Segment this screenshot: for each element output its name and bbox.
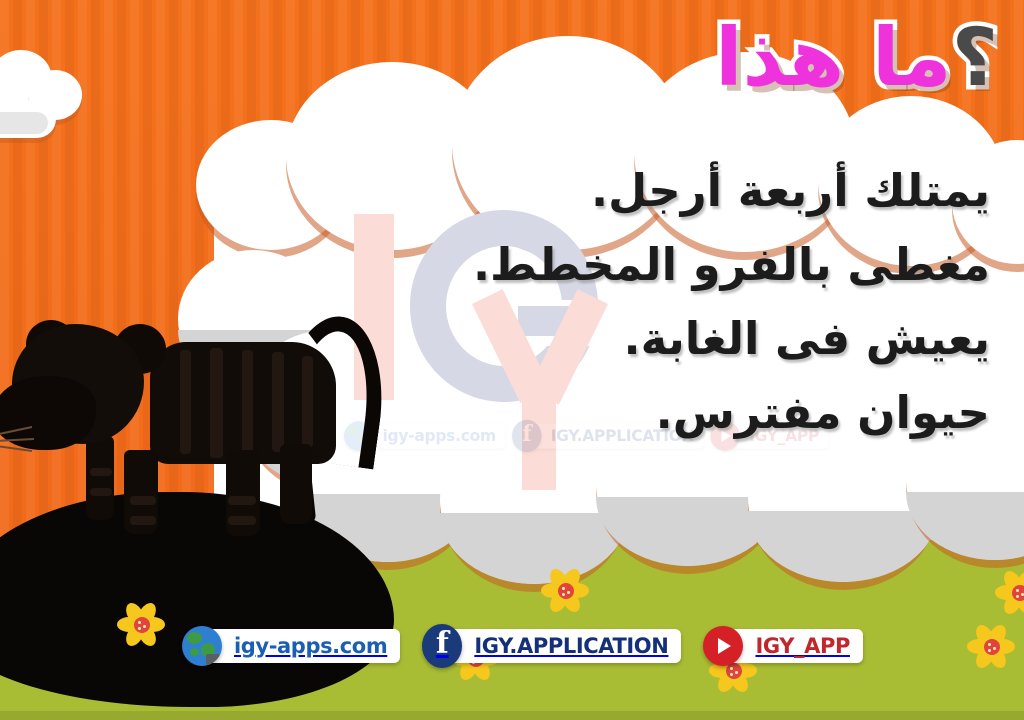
globe-icon [182,626,222,666]
flower [542,570,588,612]
rock-ground-silhouette [0,492,394,707]
website-label: igy-apps.com [196,629,400,663]
title-question-mark: ؟ [952,11,998,104]
badge-website[interactable]: igy-apps.com [182,628,400,664]
riddle-line: حيوان مفترس. [430,390,990,435]
page-title: ؟ما هذا [715,18,998,98]
facebook-label: IGY.APPLICATION [436,629,681,663]
riddle-line: مغطى بالفرو المخطط. [430,242,990,287]
flower [118,604,164,646]
badge-youtube[interactable]: IGY_APP [703,628,863,664]
illustration-card: igy-apps.com f IGY.APPLICATION IGY_APP ؟… [0,0,1024,720]
riddle-line: يعيش فى الغابة. [430,316,990,361]
grass-bottom-strip [0,711,1024,720]
riddle-line: يمتلك أربعة أرجل. [430,168,990,213]
title-text: ما هذا [715,11,952,104]
flower [968,626,1014,668]
badge-facebook[interactable]: f IGY.APPLICATION [422,628,681,664]
social-badge-row: igy-apps.com f IGY.APPLICATION IGY_APP [182,628,863,664]
tiger-silhouette [0,310,366,610]
riddle-clue-list: يمتلك أربعة أرجل. مغطى بالفرو المخطط. يع… [430,168,990,464]
flower [996,572,1024,614]
